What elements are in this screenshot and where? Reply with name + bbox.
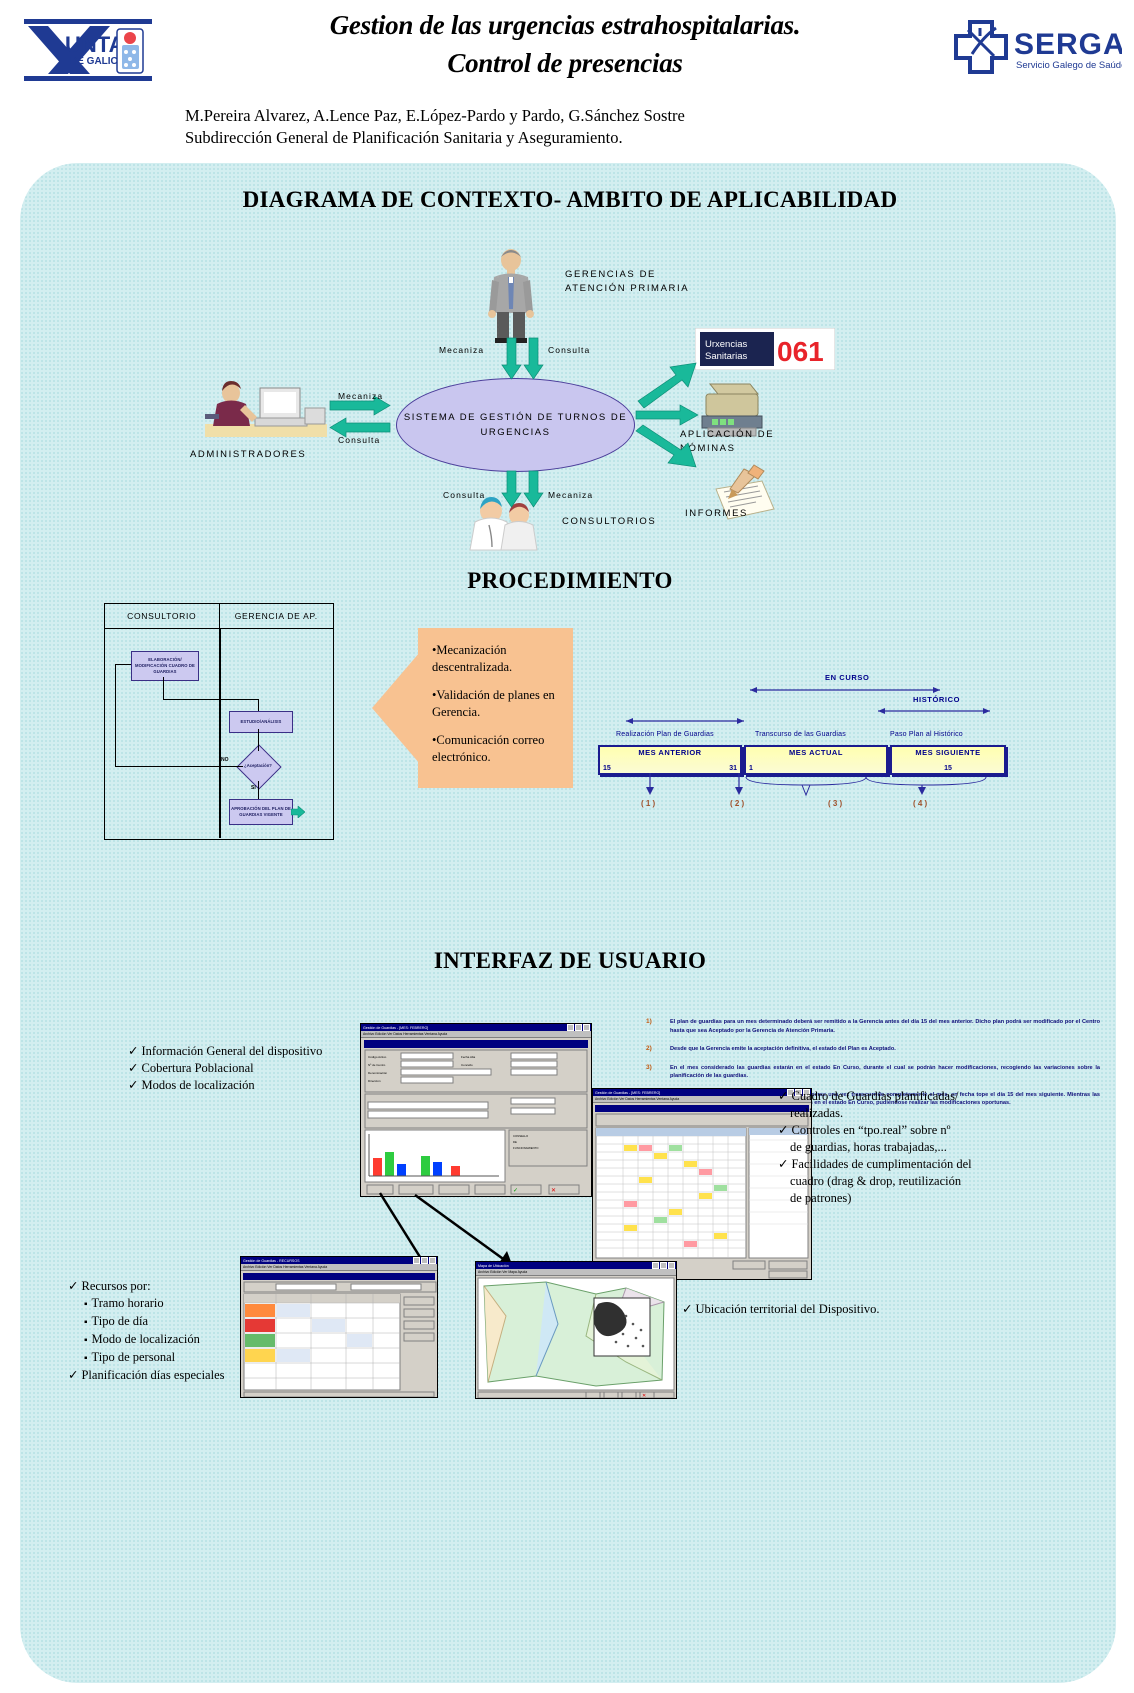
bullet-dias-especiales: Planificación días especiales	[68, 1367, 308, 1384]
shot-main-menubar[interactable]: Archivo Edición Ver Datos Herramientas V…	[361, 1031, 591, 1038]
author-line-1: M.Pereira Alvarez, A.Lence Paz, E.López-…	[185, 105, 985, 127]
shot-main-title: Gestión de Guardias - [MES: FEBRERO]	[362, 1026, 428, 1030]
bullet-modo-localizacion: Modo de localización	[84, 1331, 308, 1349]
timeline-marker-4: ( 4 )	[913, 799, 927, 808]
bullet-modos-localizacion: Modos de localización	[128, 1077, 388, 1094]
shot-grid-title: Gestión de Guardias - [MES: FEBRERO]	[594, 1091, 660, 1095]
node-label-informes: INFORMES	[685, 507, 748, 521]
timeline-marker-1: ( 1 )	[641, 799, 655, 808]
flow-label-si: SI	[251, 785, 256, 791]
bullet-tramo-horario: Tramo horario	[84, 1295, 308, 1313]
bullet-recursos-por: Recursos por:	[68, 1278, 308, 1295]
flow-edge-1	[163, 677, 164, 699]
flow-label-consulta-top: Consulta	[548, 345, 590, 355]
svg-text:061: 061	[777, 336, 824, 367]
author-line-2: Subdirección General de Planificación Sa…	[185, 127, 985, 149]
bullets-recursos: Recursos por: Tramo horario Tipo de día …	[68, 1278, 308, 1384]
bullet-tipo-personal: Tipo de personal	[84, 1349, 308, 1367]
note-text-3: En el mes considerado las guardias estar…	[670, 1065, 1100, 1080]
screenshot-map[interactable]: Mapa de Ubicación Archivo Edición Ver Ma…	[475, 1261, 677, 1399]
flow-box-aprobacion: APROBACIÓN DEL PLAN DE GUARDIAS VIGENTE	[229, 799, 293, 825]
svg-text:Concello: Concello	[461, 1063, 473, 1067]
svg-text:Urxencias: Urxencias	[705, 339, 747, 350]
flow-edge-2	[163, 699, 259, 700]
timeline-phase-3: Paso Plan al Histórico	[890, 731, 963, 738]
central-process-label: SISTEMA DE GESTIÓN DE TURNOS DE URGENCIA…	[397, 410, 634, 440]
flow-edge-3	[258, 699, 259, 711]
flow-edge-no-1	[115, 766, 243, 767]
shot-table-menubar[interactable]: Archivo Edición Ver Datos Herramientas V…	[241, 1264, 437, 1271]
flow-label-mecaniza-bottom: Mecaniza	[548, 490, 593, 500]
timeline-phase-1: Realización Plan de Guardias	[616, 731, 714, 738]
note-text-1: El plan de guardias para un mes determin…	[670, 1019, 1100, 1034]
consultorios-clipart	[465, 493, 545, 556]
title-line-2: Control de presencias	[185, 44, 945, 82]
xunta-de-galicia-logo: UNTA DE GALICIA	[18, 12, 168, 90]
poster-body-panel: DIAGRAMA DE CONTEXTO- AMBITO DE APLICABI…	[20, 163, 1116, 1683]
flow-label-consulta-left: Consulta	[338, 435, 380, 445]
node-label-consultorios: CONSULTORIOS	[562, 515, 656, 529]
bullet-facilidades-cont: cuadro (drag & drop, reutilización	[790, 1173, 1038, 1190]
svg-text:✕: ✕	[551, 1188, 556, 1194]
window-buttons[interactable]	[413, 1257, 436, 1264]
svg-text:✓: ✓	[513, 1188, 518, 1194]
node-label-nominas: APLICACIÓN DENÓMINAS	[680, 428, 774, 456]
screenshot-main-form[interactable]: Gestión de Guardias - [MES: FEBRERO] Arc…	[360, 1023, 592, 1197]
context-diagram: DIAGRAMA DE CONTEXTO- AMBITO DE APLICABI…	[20, 163, 1116, 583]
bullet-cuadro-guardias: Cuadro de Guardias planificadas/	[778, 1088, 1038, 1105]
bullet-controles-tporeal: Controles en “tpo.real” sobre nº	[778, 1122, 1038, 1139]
callout-item-3: •Comunicación correo electrónico.	[432, 732, 565, 766]
svg-text:Dirección: Dirección	[368, 1079, 381, 1083]
svg-text:Sanitarias: Sanitarias	[705, 351, 747, 362]
page-title: Gestion de las urgencias estrahospitalar…	[185, 6, 945, 82]
svg-text:Nº de Centro: Nº de Centro	[368, 1063, 386, 1067]
flowchart-lane-headers: CONSULTORIO GERENCIA DE AP.	[105, 604, 333, 629]
bullet-cuadro-guardias-cont: realizadas.	[790, 1105, 1038, 1122]
svg-text:Denominación: Denominación	[368, 1071, 388, 1075]
node-label-gerencias: GERENCIAS DEATENCIÓN PRIMARIA	[565, 268, 689, 296]
svg-text:✕: ✕	[642, 1393, 646, 1399]
month-name-anterior: MES ANTERIOR	[600, 747, 740, 759]
note-number-1: 1)	[646, 1018, 652, 1027]
timeline-marker-3: ( 3 )	[828, 799, 842, 808]
svg-text:Servicio Galego de Saúde: Servicio Galego de Saúde	[1016, 60, 1122, 71]
flow-label-mecaniza-top: Mecaniza	[439, 345, 484, 355]
authors-block: M.Pereira Alvarez, A.Lence Paz, E.López-…	[185, 105, 985, 149]
bullet-cobertura: Cobertura Poblacional	[128, 1060, 388, 1077]
svg-text:SERGAS: SERGAS	[1014, 28, 1122, 61]
callout-item-2: •Validación de planes en Gerencia.	[432, 687, 565, 721]
shot-table-title: Gestión de Guardias - RECURSOS	[242, 1259, 300, 1263]
bullet-facilidades-cont2: de patrones)	[790, 1190, 1038, 1207]
ui-section-title: INTERFAZ DE USUARIO	[240, 948, 900, 974]
svg-text:Fecha Alta: Fecha Alta	[461, 1055, 476, 1059]
shot-map-title: Mapa de Ubicación	[477, 1264, 509, 1268]
node-label-administradores: ADMINISTRADORES	[190, 448, 306, 462]
callout-item-1: •Mecanización descentralizada.	[432, 642, 565, 676]
lane-header-gerencia: GERENCIA DE AP.	[220, 604, 334, 628]
poster-header: UNTA DE GALICIA Gestion de las urgencias…	[0, 0, 1134, 165]
sergas-logo: SERGAS Servicio Galego de Saúde	[950, 14, 1122, 86]
timeline-phase-2: Transcurso de las Guardias	[755, 731, 846, 738]
procedure-note-2: 2) Desde que la Gerencia emite la acepta…	[640, 1045, 1100, 1054]
timeline-span-label-historico: HISTÓRICO	[913, 695, 960, 704]
flow-end-arrow-icon	[291, 805, 305, 823]
flow-label-no: NO	[221, 757, 229, 763]
window-buttons[interactable]	[652, 1262, 675, 1269]
shot-map-client: ✕	[476, 1276, 676, 1399]
note-number-2: 2)	[646, 1045, 652, 1054]
svg-text:FUNCIONAMIENTO: FUNCIONAMIENTO	[513, 1146, 539, 1150]
svg-text:Código Activo: Código Activo	[368, 1055, 387, 1059]
svg-text:UNTA: UNTA	[65, 32, 125, 57]
urxencias-061-logo: Urxencias Sanitarias 061	[695, 328, 835, 375]
month-name-actual: MES ACTUAL	[746, 747, 886, 759]
flow-edge-no-2	[115, 664, 116, 767]
shot-map-menubar[interactable]: Archivo Edición Ver Mapa Ayuda	[476, 1269, 676, 1276]
gerencias-clipart	[480, 248, 542, 348]
procedure-timeline: EN CURSO HISTÓRICO Realización Plan de G…	[550, 663, 1095, 903]
flow-edge-4	[258, 729, 259, 751]
shot-main-titlebar: Gestión de Guardias - [MES: FEBRERO]	[361, 1024, 591, 1031]
note-number-3: 3)	[646, 1064, 652, 1073]
central-process-ellipse: SISTEMA DE GESTIÓN DE TURNOS DE URGENCIA…	[396, 378, 635, 472]
flow-label-consulta-bottom: Consulta	[443, 490, 485, 500]
bullet-facilidades: Facilidades de cumplimentación del	[778, 1156, 1038, 1173]
bullet-tipo-dia: Tipo de día	[84, 1313, 308, 1331]
title-line-1: Gestion de las urgencias estrahospitalar…	[185, 6, 945, 44]
bullet-info-general: Información General del dispositivo	[128, 1043, 388, 1060]
procedure-note-3: 3) En el mes considerado las guardias es…	[640, 1064, 1100, 1081]
procedure-note-1: 1) El plan de guardias para un mes deter…	[640, 1018, 1100, 1035]
bullets-device-info: Información General del dispositivo Cobe…	[128, 1043, 388, 1094]
administradores-clipart	[205, 378, 327, 445]
flow-edge-5	[258, 781, 259, 799]
lane-header-consultorio: CONSULTORIO	[105, 604, 220, 628]
flow-edge-no-3	[115, 664, 131, 665]
flow-label-mecaniza-left: Mecaniza	[338, 391, 383, 401]
timeline-marker-2: ( 2 )	[730, 799, 744, 808]
shot-table-titlebar: Gestión de Guardias - RECURSOS	[241, 1257, 437, 1264]
month-name-siguiente: MES SIGUIENTE	[892, 747, 1004, 759]
svg-text:CONSELLO: CONSELLO	[513, 1134, 529, 1138]
window-buttons[interactable]	[567, 1024, 590, 1031]
svg-text:DE: DE	[513, 1140, 517, 1144]
bullet-controles-cont: de guardias, horas trabajadas,...	[790, 1139, 1038, 1156]
procedure-flowchart: CONSULTORIO GERENCIA DE AP. ELABORACIÓN/…	[104, 603, 334, 840]
flow-box-elaboracion: ELABORACIÓN/ MODIFICACIÓN CUADRO DE GUAR…	[131, 651, 199, 681]
shot-map-titlebar: Mapa de Ubicación	[476, 1262, 676, 1269]
procedure-title: PROCEDIMIENTO	[250, 568, 890, 594]
bullets-map: Ubicación territorial del Dispositivo.	[682, 1301, 962, 1318]
callout-arrowhead-icon	[372, 652, 420, 764]
timeline-marker-arrows	[550, 771, 1095, 813]
note-text-2: Desde que la Gerencia emite la aceptació…	[670, 1046, 896, 1052]
context-diagram-title: DIAGRAMA DE CONTEXTO- AMBITO DE APLICABI…	[170, 183, 970, 216]
lane-divider	[219, 629, 221, 838]
flow-box-estudio: ESTUDIO/ANÁLISIS	[229, 711, 293, 733]
bullets-guardias: Cuadro de Guardias planificadas/ realiza…	[778, 1088, 1038, 1207]
bullet-ubicacion-territorial: Ubicación territorial del Dispositivo.	[682, 1301, 962, 1318]
shot-main-client: Código ActivoNº de Centro DenominaciónDi…	[361, 1038, 591, 1197]
